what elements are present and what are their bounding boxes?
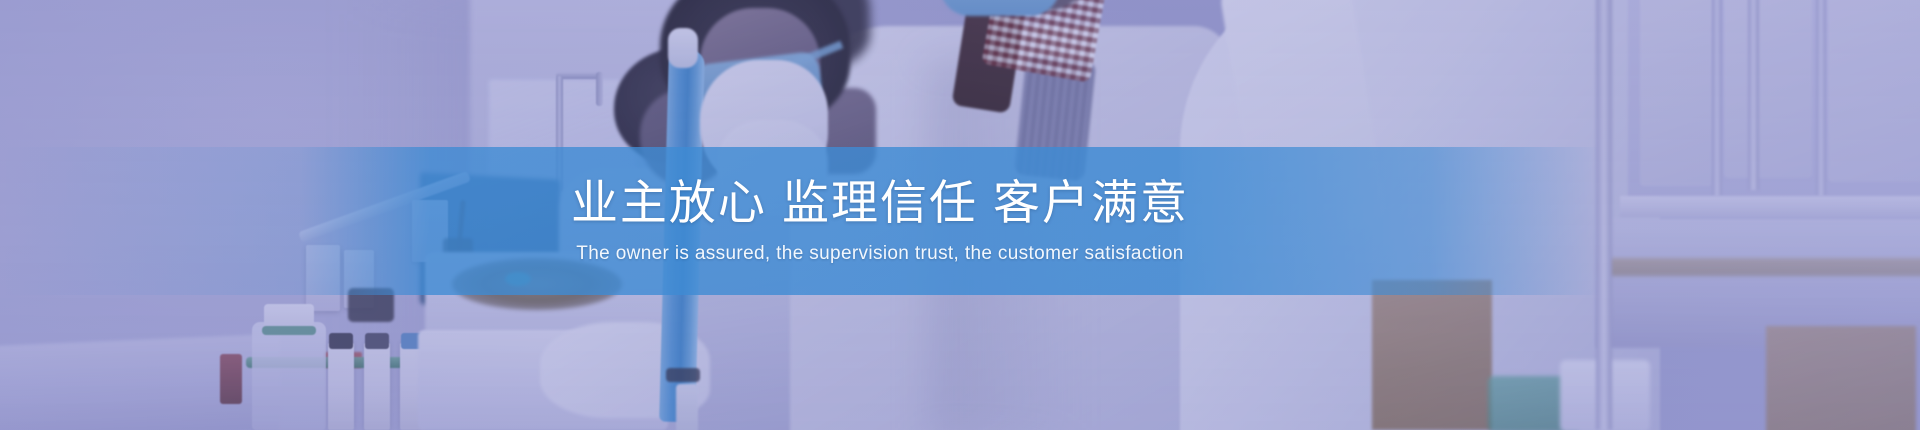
hero-banner: 业主放心 监理信任 客户满意 The owner is assured, the… bbox=[0, 0, 1920, 430]
banner-text-block: 业主放心 监理信任 客户满意 The owner is assured, the… bbox=[0, 147, 1600, 295]
banner-subline: The owner is assured, the supervision tr… bbox=[576, 243, 1183, 265]
banner-headline: 业主放心 监理信任 客户满意 bbox=[571, 177, 1189, 230]
